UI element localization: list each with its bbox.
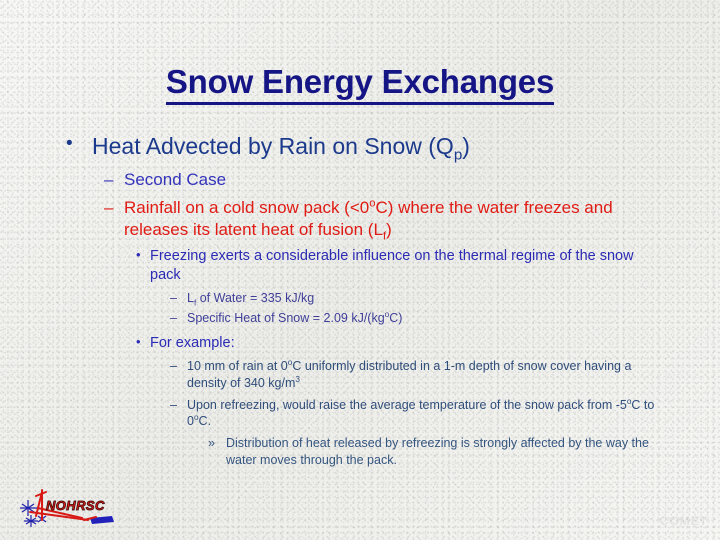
nohrsc-logo: NOHRSC bbox=[16, 486, 124, 534]
text-run: p bbox=[454, 147, 462, 164]
slide-body-outline: •Heat Advected by Rain on Snow (Qp)–Seco… bbox=[0, 132, 720, 470]
outline-item-l4: –10 mm of rain at 0oC uniformly distribu… bbox=[0, 358, 720, 391]
text-run: 10 mm of rain at 0 bbox=[187, 359, 288, 373]
text-run: Specific Heat of Snow = 2.09 kJ/(kg bbox=[187, 311, 385, 325]
bullet-marker-icon: • bbox=[136, 334, 141, 351]
dash-marker-icon: – bbox=[170, 358, 177, 374]
text-run: Rainfall on a cold snow pack (<0 bbox=[124, 198, 369, 217]
text-run: Second Case bbox=[124, 170, 226, 189]
text-run: Freezing exerts a considerable influence… bbox=[150, 248, 634, 283]
outline-item-l1: •Heat Advected by Rain on Snow (Qp) bbox=[0, 132, 720, 160]
text-run: 3 bbox=[295, 375, 300, 384]
slide-canvas: Snow Energy Exchanges •Heat Advected by … bbox=[0, 0, 720, 540]
outline-item-text: Heat Advected by Rain on Snow (Qp) bbox=[92, 132, 700, 160]
text-run: For example: bbox=[150, 335, 235, 351]
text-run: ) bbox=[386, 220, 392, 239]
text-run: C. bbox=[199, 414, 212, 428]
outline-item-text: Upon refreezing, would raise the average… bbox=[187, 397, 665, 430]
nohrsc-logo-text: NOHRSC bbox=[46, 498, 105, 513]
outline-item-l2: –Second Case bbox=[0, 169, 720, 190]
outline-item-text: Second Case bbox=[124, 169, 672, 190]
dash-marker-icon: – bbox=[170, 310, 177, 326]
chevron-marker-icon: » bbox=[208, 435, 215, 452]
text-run: Upon refreezing, would raise the average… bbox=[187, 398, 627, 412]
page-title-text: Snow Energy Exchanges bbox=[166, 64, 554, 105]
outline-item-text: For example: bbox=[150, 334, 665, 353]
outline-item-text: Rainfall on a cold snow pack (<0oC) wher… bbox=[124, 197, 672, 240]
outline-item-l3: •Freezing exerts a considerable influenc… bbox=[0, 247, 720, 284]
bullet-marker-icon: • bbox=[66, 132, 73, 155]
text-run: of Water = 335 kJ/kg bbox=[196, 291, 314, 305]
outline-item-l3: •For example: bbox=[0, 334, 720, 353]
outline-item-text: 10 mm of rain at 0oC uniformly distribut… bbox=[187, 358, 665, 391]
outline-item-l4: –Upon refreezing, would raise the averag… bbox=[0, 397, 720, 430]
outline-item-text: Specific Heat of Snow = 2.09 kJ/(kgoC) bbox=[187, 310, 665, 326]
text-run: ) bbox=[462, 133, 470, 159]
outline-item-text: Distribution of heat released by refreez… bbox=[226, 435, 660, 468]
outline-item-text: Lf of Water = 335 kJ/kg bbox=[187, 290, 665, 306]
page-title: Snow Energy Exchanges bbox=[0, 64, 720, 105]
dash-marker-icon: – bbox=[170, 290, 177, 306]
outline-item-l4: –Lf of Water = 335 kJ/kg bbox=[0, 290, 720, 306]
outline-item-l4: –Specific Heat of Snow = 2.09 kJ/(kgoC) bbox=[0, 310, 720, 326]
dash-marker-icon: – bbox=[170, 397, 177, 413]
bullet-marker-icon: • bbox=[136, 247, 141, 264]
text-run: L bbox=[187, 291, 194, 305]
outline-item-l5: »Distribution of heat released by refree… bbox=[0, 435, 720, 468]
text-run: Distribution of heat released by refreez… bbox=[226, 436, 649, 467]
dash-marker-icon: – bbox=[104, 197, 113, 218]
dash-marker-icon: – bbox=[104, 169, 113, 190]
text-run: Heat Advected by Rain on Snow (Q bbox=[92, 133, 454, 159]
text-run: C) bbox=[389, 311, 402, 325]
comet-watermark: COMET bbox=[660, 514, 708, 528]
outline-item-l2: –Rainfall on a cold snow pack (<0oC) whe… bbox=[0, 197, 720, 240]
outline-item-text: Freezing exerts a considerable influence… bbox=[150, 247, 665, 284]
